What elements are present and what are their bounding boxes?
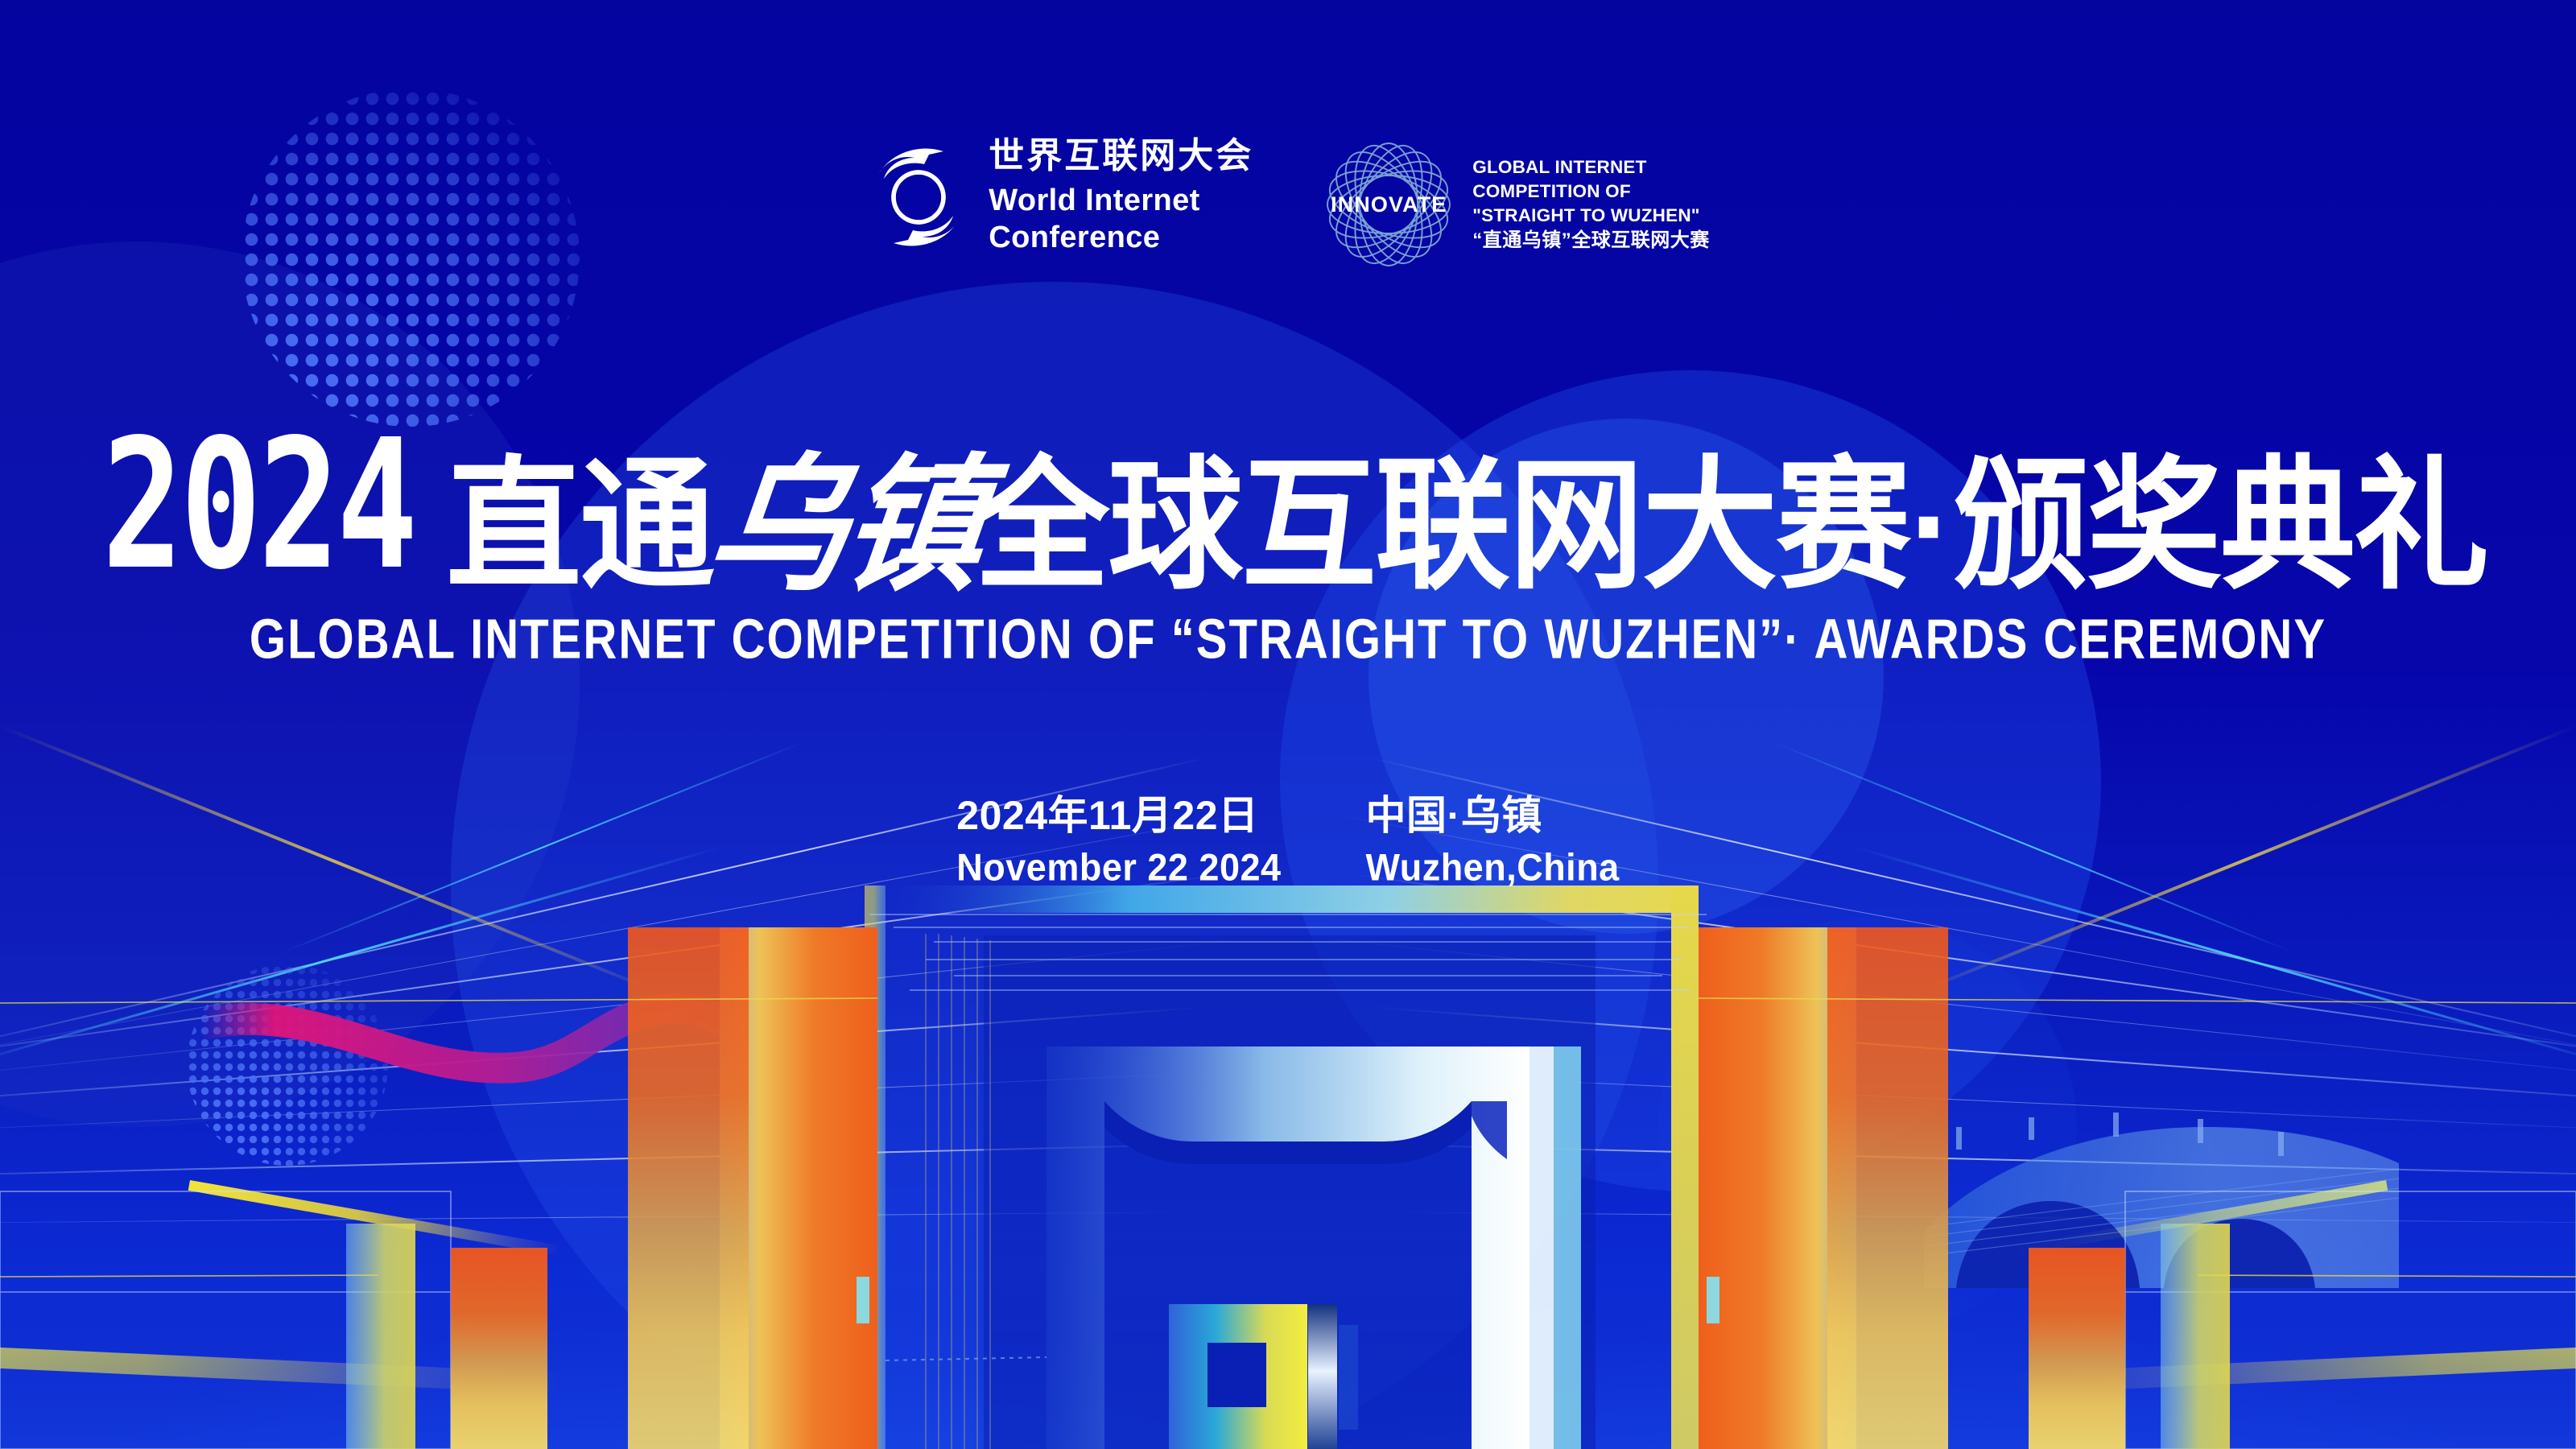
wic-spirograph-icon <box>866 137 971 258</box>
title-subtitle-en: GLOBAL INTERNET COMPETITION OF “STRAIGHT… <box>19 607 2557 671</box>
title-cn-wuzhen: 乌镇 <box>701 452 987 599</box>
innovate-line2: COMPETITION OF <box>1472 180 1710 204</box>
innovate-line3: "STRAIGHT TO WUZHEN" <box>1472 204 1710 228</box>
wic-name-en-line1: World Internet <box>989 182 1253 219</box>
event-place-en: Wuzhen,China <box>1366 846 1620 889</box>
accent-notch-left <box>857 1277 869 1323</box>
world-internet-conference-logo[interactable]: 世界互联网大会 World Internet Conference <box>866 137 1253 258</box>
title-cn-part-a: 直通 <box>446 445 713 605</box>
gateway-column-far-right <box>2161 1224 2230 1449</box>
wic-name-en-line2: Conference <box>989 219 1253 256</box>
innovate-logo[interactable]: INNOVATE GLOBAL INTERNET COMPETITION OF … <box>1323 137 1710 272</box>
logo-row: 世界互联网大会 World Internet Conference <box>0 137 2576 272</box>
innovate-line4: “直通乌镇”全球互联网大赛 <box>1472 228 1710 254</box>
main-title-block: 2024 直通乌镇全球互联网大赛·颁奖典礼 GLOBAL INTERNET CO… <box>0 451 2576 662</box>
title-year: 2024 <box>102 415 415 594</box>
event-place-cn: 中国·乌镇 <box>1366 793 1620 838</box>
innovate-line1: GLOBAL INTERNET <box>1472 155 1710 180</box>
event-date-cn: 2024年11月22日 <box>956 793 1281 838</box>
gateway-column-far-left <box>346 1224 415 1449</box>
title-cn-part-b: 全球互联网大赛·颁奖典礼 <box>974 445 2487 605</box>
innovate-wordmark: INNOVATE <box>1323 192 1455 217</box>
center-emblem <box>1169 1304 1358 1449</box>
wic-name-cn: 世界互联网大会 <box>989 138 1253 174</box>
chinese-gateway-archway <box>0 885 2576 1449</box>
event-date-en: November 22 2024 <box>956 846 1281 889</box>
event-place: 中国·乌镇 Wuzhen,China <box>1366 793 1620 886</box>
event-date: 2024年11月22日 November 22 2024 <box>956 793 1281 886</box>
accent-notch-right <box>1707 1277 1719 1323</box>
event-meta: 2024年11月22日 November 22 2024 中国·乌镇 Wuzhe… <box>0 793 2576 886</box>
poster-canvas: 世界互联网大会 World Internet Conference <box>0 0 2576 1449</box>
